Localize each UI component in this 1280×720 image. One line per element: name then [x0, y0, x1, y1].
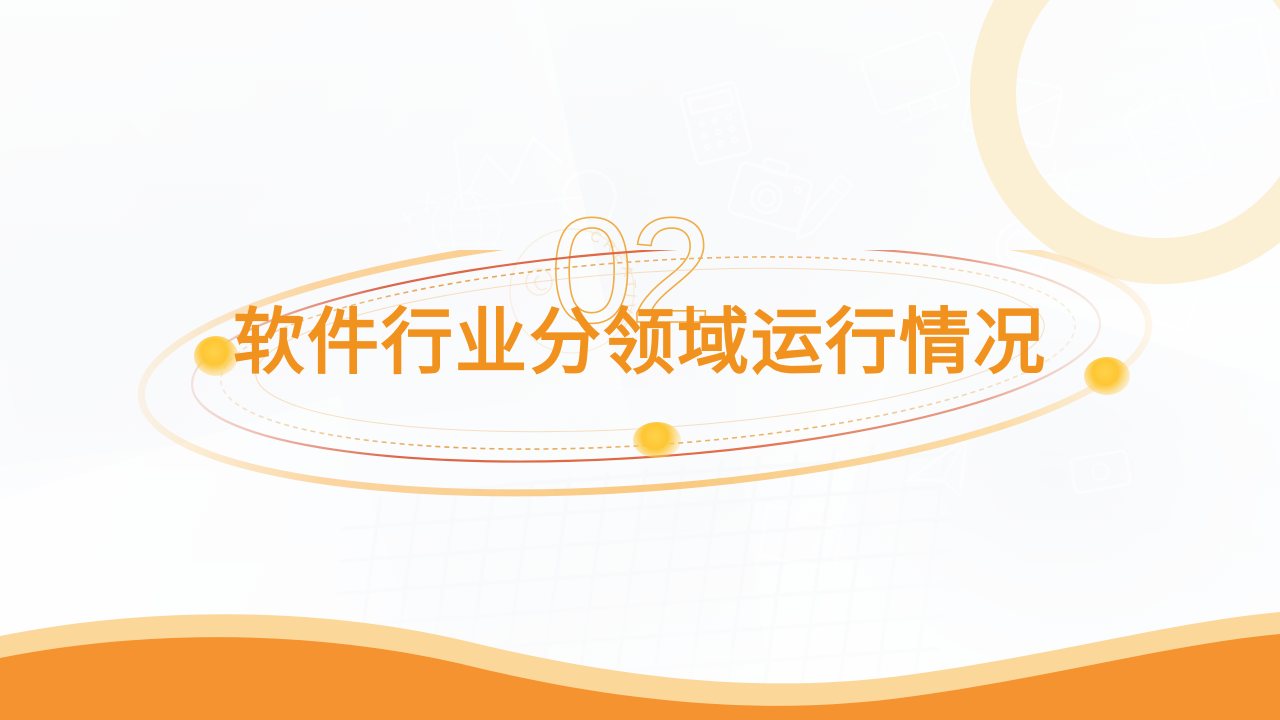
orbit-dot-middle: [633, 422, 681, 458]
bottom-wave-group: [0, 590, 1280, 720]
slide-canvas: CREATIVE 02: [0, 0, 1280, 720]
section-title: 软件行业分领域运行情况: [0, 296, 1280, 388]
